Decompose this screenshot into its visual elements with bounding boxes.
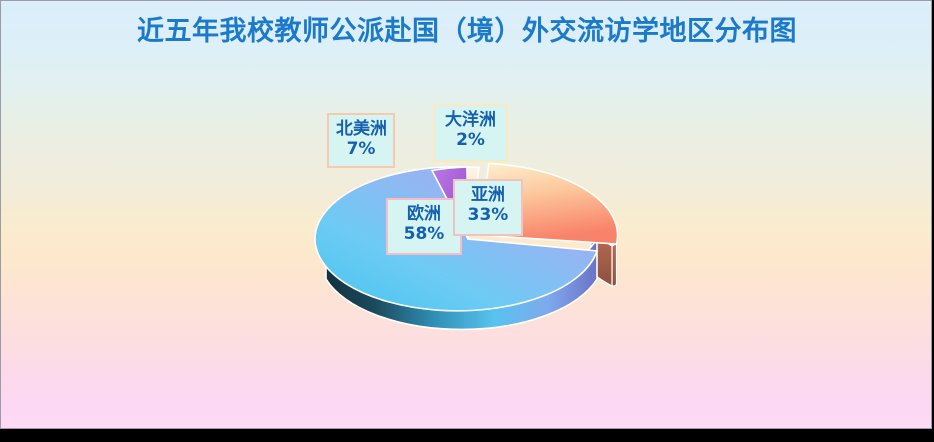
data-label-oceania: 大洋洲 2%	[433, 104, 508, 162]
data-label-oceania-value: 2%	[442, 130, 499, 150]
data-label-oceania-name: 大洋洲	[442, 110, 499, 130]
data-label-north-america: 北美洲 7%	[327, 113, 395, 168]
data-label-asia: 亚洲 33%	[453, 179, 523, 236]
pie-side-asia	[612, 244, 617, 286]
data-label-europe: 欧洲 58%	[386, 198, 462, 255]
data-label-europe-value: 58%	[395, 224, 453, 244]
chart-title: 近五年我校教师公派赴国（境）外交流访学地区分布图	[1, 15, 932, 49]
data-label-europe-name: 欧洲	[395, 204, 453, 224]
data-label-north-america-value: 7%	[336, 139, 386, 159]
data-label-asia-name: 亚洲	[462, 185, 514, 205]
data-label-asia-value: 33%	[462, 205, 514, 225]
data-label-north-america-name: 北美洲	[336, 119, 386, 139]
chart-frame: 近五年我校教师公派赴国（境）外交流访学地区分布图	[0, 0, 932, 429]
